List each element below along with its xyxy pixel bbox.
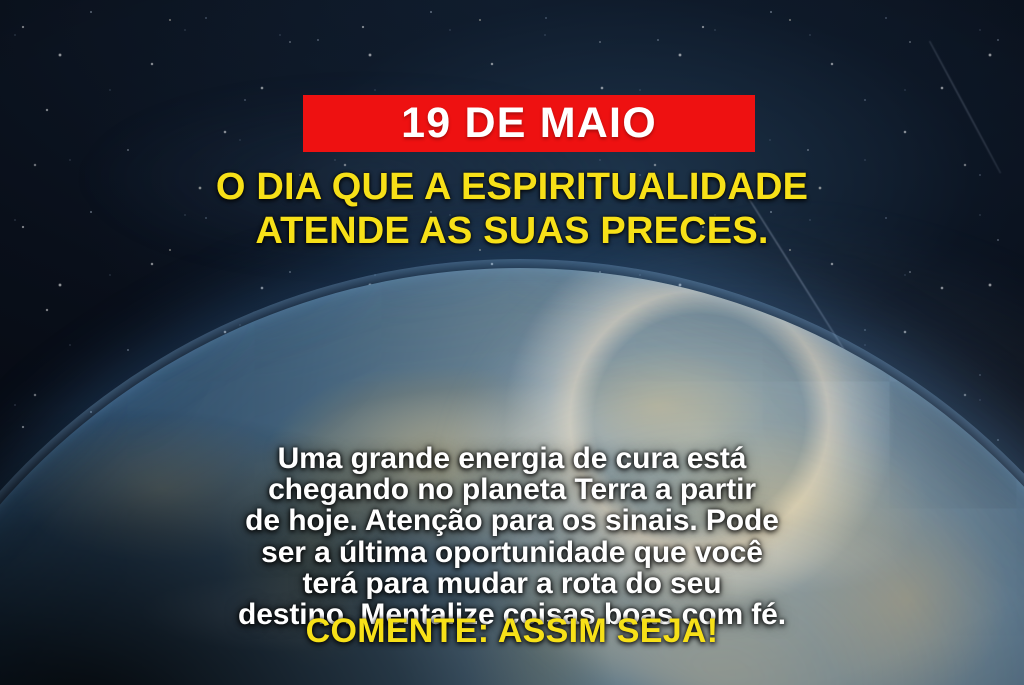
poster-content: 19 DE MAIO O DIA QUE A ESPIRITUALIDADE A… <box>0 0 1024 685</box>
body-line-2: chegando no planeta Terra a partir <box>50 474 974 505</box>
body-line-1: Uma grande energia de cura está <box>50 443 974 474</box>
headline-line-1: O DIA QUE A ESPIRITUALIDADE <box>0 165 1024 209</box>
date-badge-label: 19 DE MAIO <box>401 102 657 145</box>
call-to-action-label: COMENTE: ASSIM SEJA! <box>306 612 719 650</box>
body-line-4: ser a última oportunidade que você <box>50 537 974 568</box>
body-line-5: terá para mudar a rota do seu <box>50 568 974 599</box>
date-badge: 19 DE MAIO <box>303 95 755 152</box>
call-to-action: COMENTE: ASSIM SEJA! <box>0 612 1024 651</box>
headline-line-2: ATENDE AS SUAS PRECES. <box>0 209 1024 253</box>
headline: O DIA QUE A ESPIRITUALIDADE ATENDE AS SU… <box>0 165 1024 253</box>
poster: 19 DE MAIO O DIA QUE A ESPIRITUALIDADE A… <box>0 0 1024 685</box>
body-paragraph: Uma grande energia de cura está chegando… <box>50 443 974 630</box>
body-line-3: de hoje. Atenção para os sinais. Pode <box>50 505 974 536</box>
